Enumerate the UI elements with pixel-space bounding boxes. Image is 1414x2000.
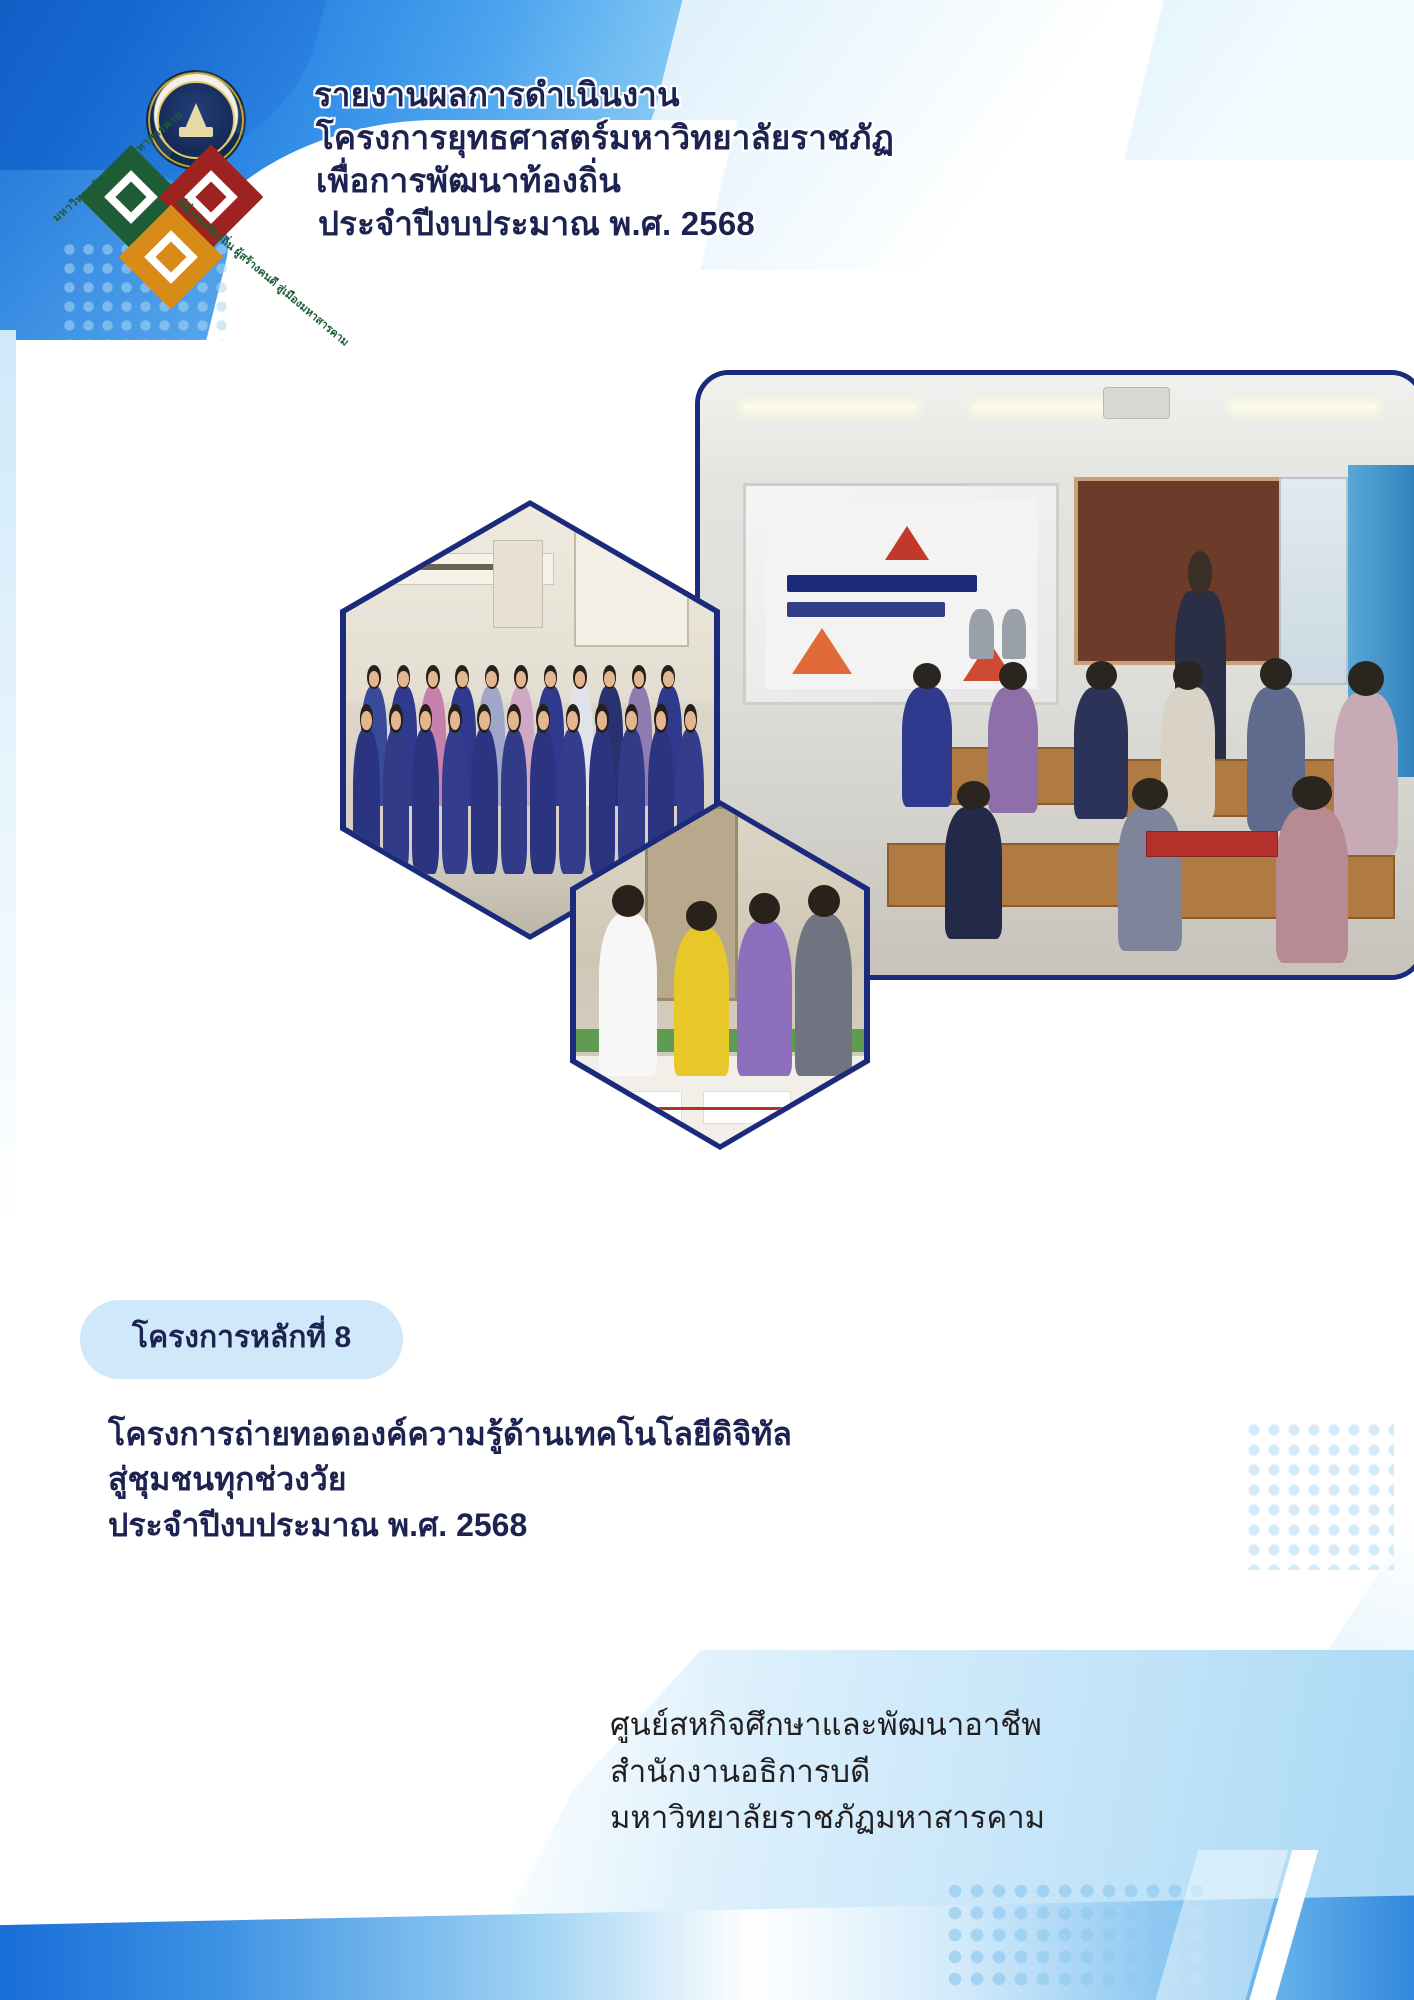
photo-collage xyxy=(340,360,1414,1020)
project-title-line-1: โครงการถ่ายทอดองค์ความรู้ด้านเทคโนโลยีดิ… xyxy=(108,1412,1008,1457)
left-edge-sliver xyxy=(0,330,16,1230)
footer-line-2: สำนักงานอธิการบดี xyxy=(610,1749,1370,1796)
footer-line-1: ศูนย์สหกิจศึกษาและพัฒนาอาชีพ xyxy=(610,1702,1370,1749)
project-title-line-2: สู่ชุมชนทุกช่วงวัย xyxy=(108,1457,1008,1502)
page-title-line-3: เพื่อการพัฒนาท้องถิ่น xyxy=(314,160,1114,203)
footer-line-3: มหาวิทยาลัยราชภัฏมหาสารคาม xyxy=(610,1795,1370,1842)
footer-organization: ศูนย์สหกิจศึกษาและพัฒนาอาชีพ สำนักงานอธิ… xyxy=(610,1702,1370,1842)
page-title-line-2: โครงการยุทธศาสตร์มหาวิทยาลัยราชภัฏ xyxy=(314,117,1114,160)
status-badge: โครงการหลักที่ 8 xyxy=(80,1300,403,1379)
project-title-line-3: ประจำปีงบประมาณ พ.ศ. 2568 xyxy=(108,1503,1008,1548)
right-dot-pattern xyxy=(1244,1420,1394,1570)
project-title: โครงการถ่ายทอดองค์ความรู้ด้านเทคโนโลยีดิ… xyxy=(108,1412,1008,1548)
page-title-line-1: รายงานผลการดำเนินงาน xyxy=(314,74,1114,117)
cover-page: มหาวิทยาลัยราชภัฏมหาสารคาม ที่พึ่งของท้อ… xyxy=(0,0,1414,2000)
photo-students-writing-workshop xyxy=(570,800,870,1150)
page-title-line-4: ประจำปีงบประมาณ พ.ศ. 2568 xyxy=(314,203,1114,246)
bottom-decoration xyxy=(0,1840,1414,2000)
page-title: รายงานผลการดำเนินงาน โครงการยุทธศาสตร์มห… xyxy=(314,74,1114,246)
logo-group: มหาวิทยาลัยราชภัฏมหาสารคาม ที่พึ่งของท้อ… xyxy=(60,60,310,310)
